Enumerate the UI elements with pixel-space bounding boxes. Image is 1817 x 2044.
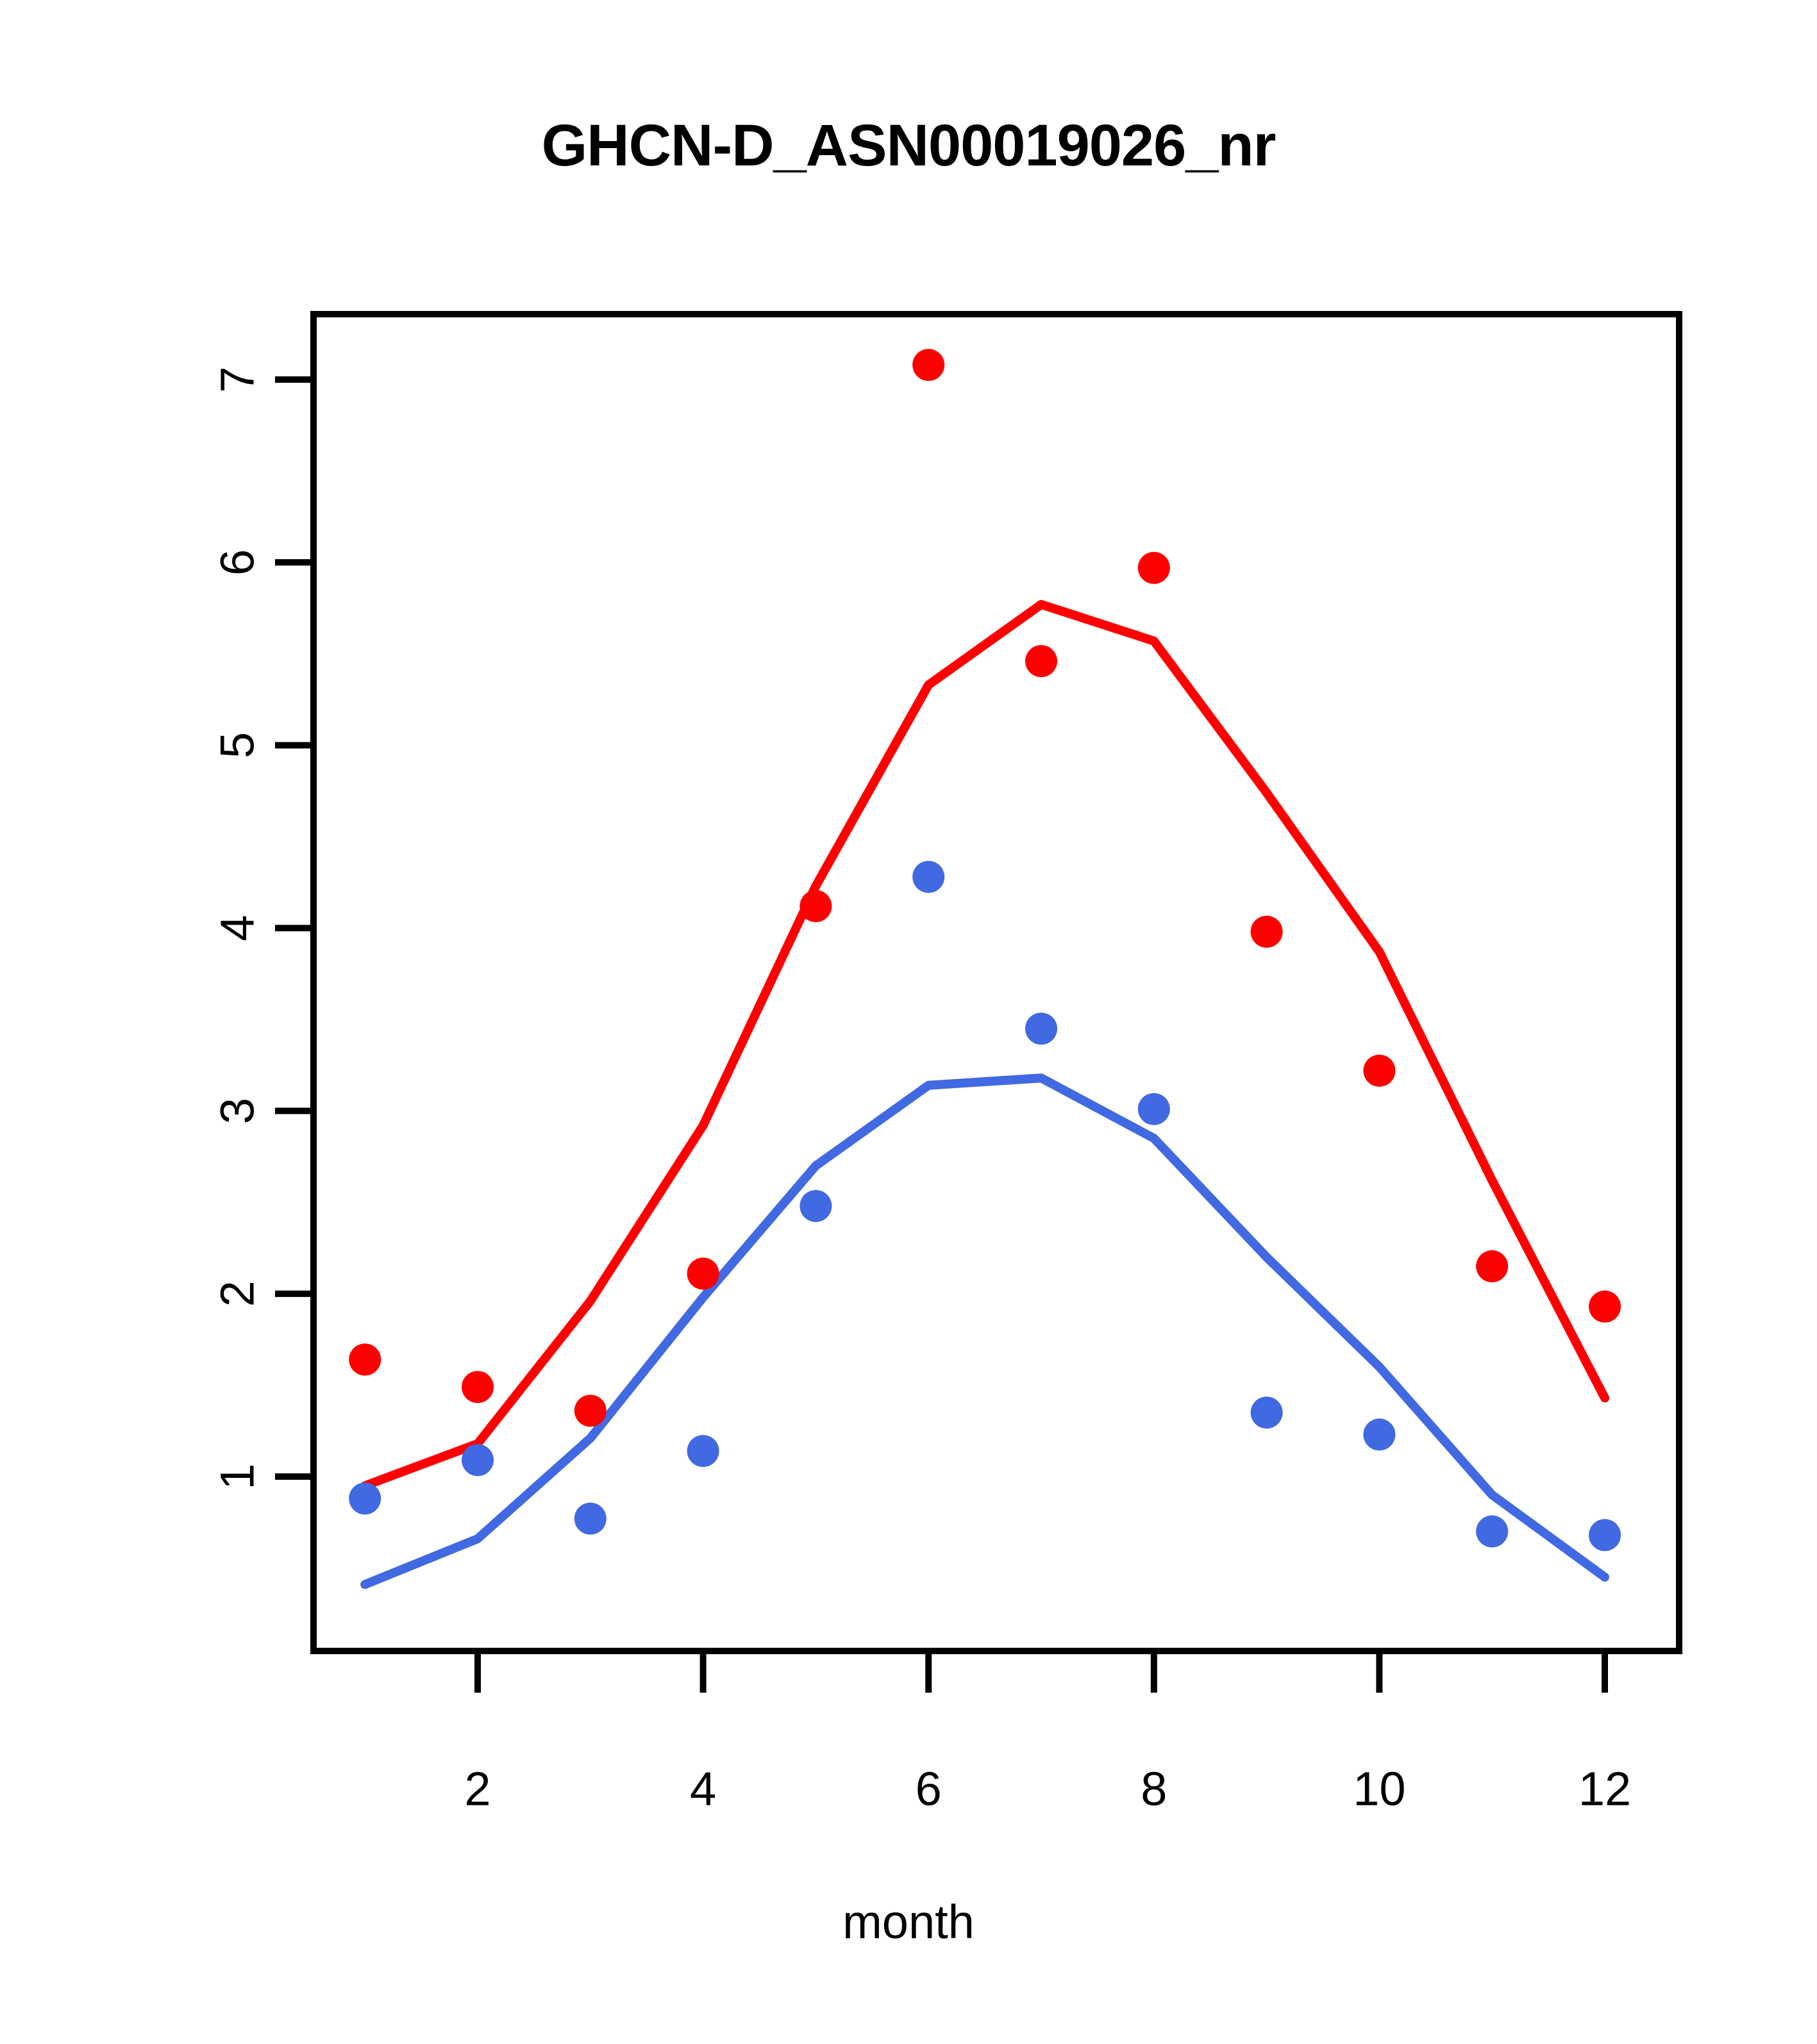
y-tick-label: 4 <box>211 915 264 941</box>
data-point <box>1476 1516 1508 1548</box>
x-tick-label: 10 <box>1353 1763 1405 1816</box>
x-tick-label: 12 <box>1578 1763 1631 1816</box>
data-point <box>687 1257 719 1289</box>
data-point <box>462 1371 494 1403</box>
data-point <box>1476 1250 1508 1282</box>
line-blue-line <box>365 1078 1605 1584</box>
series-red-line <box>365 605 1605 1486</box>
y-tick-label: 1 <box>211 1463 264 1489</box>
data-point <box>574 1503 607 1535</box>
x-tick-label: 4 <box>690 1763 716 1816</box>
data-point <box>1025 645 1057 677</box>
x-axis-tick-labels: 24681012 <box>464 1763 1631 1816</box>
data-point <box>574 1395 607 1427</box>
x-axis-ticks <box>478 1651 1605 1693</box>
data-point <box>912 349 944 381</box>
x-tick-label: 6 <box>916 1763 942 1816</box>
plot-border <box>314 314 1679 1651</box>
data-point <box>1138 1093 1170 1125</box>
y-tick-label: 6 <box>211 549 264 576</box>
data-point <box>800 890 832 922</box>
y-tick-label: 3 <box>211 1098 264 1124</box>
data-point <box>1138 552 1170 584</box>
series-blue-line <box>365 1078 1605 1584</box>
data-point <box>1251 1396 1283 1428</box>
data-point <box>349 1343 381 1375</box>
plot-area: 1234567 24681012 <box>0 0 1817 2044</box>
line-red-line <box>365 605 1605 1486</box>
x-tick-label: 2 <box>464 1763 490 1816</box>
data-point <box>687 1435 719 1467</box>
data-point <box>462 1444 494 1476</box>
x-axis-title: month <box>0 1895 1817 1949</box>
data-point <box>1251 916 1283 948</box>
data-point <box>1589 1291 1621 1323</box>
y-tick-label: 2 <box>211 1280 264 1307</box>
data-point <box>1363 1418 1395 1450</box>
series-blue-points <box>349 861 1621 1552</box>
data-point <box>349 1482 381 1514</box>
data-point <box>1363 1055 1395 1087</box>
data-point <box>912 861 944 893</box>
y-tick-label: 5 <box>211 732 264 758</box>
x-tick-label: 8 <box>1141 1763 1167 1816</box>
y-axis-ticks <box>275 380 314 1477</box>
data-point <box>1589 1519 1621 1551</box>
y-axis-tick-labels: 1234567 <box>211 366 264 1489</box>
chart-figure: GHCN-D_ASN00019026_nr 1234567 24681012 m… <box>0 0 1817 2044</box>
data-point <box>1025 1012 1057 1044</box>
series-red-points <box>349 349 1621 1427</box>
data-point <box>800 1190 832 1222</box>
y-tick-label: 7 <box>211 366 264 392</box>
